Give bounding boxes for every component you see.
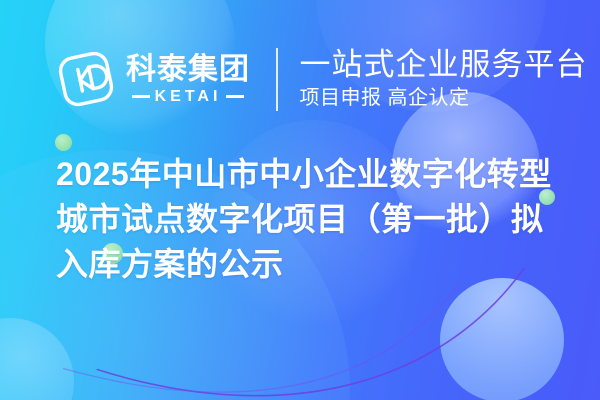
title-line-1: 2025年中山市中小企业数字化转型 xyxy=(56,152,576,197)
brand-name-en: KETAI xyxy=(155,88,222,105)
brand-tagline: 一站式企业服务平台 项目申报 高企认定 xyxy=(300,47,588,111)
ketai-diamond-logo-icon xyxy=(56,49,116,109)
title-line-2: 城市试点数字化项目（第一批）拟 xyxy=(56,197,576,242)
announcement-banner: 科泰集团 KETAI 一站式企业服务平台 项目申报 高企认定 2025年中山市中… xyxy=(0,0,600,400)
tagline-sub: 项目申报 高企认定 xyxy=(300,85,588,111)
wordmark-rule-right xyxy=(226,95,244,98)
header-divider xyxy=(276,48,278,111)
title-line-3: 入库方案的公示 xyxy=(56,242,576,287)
banner-header: 科泰集团 KETAI 一站式企业服务平台 项目申报 高企认定 xyxy=(0,40,600,118)
brand-name-cn: 科泰集团 xyxy=(126,53,250,87)
brand-logo-lockup[interactable]: 科泰集团 KETAI xyxy=(56,49,250,109)
brand-wordmark: 科泰集团 KETAI xyxy=(126,53,250,105)
announcement-title: 2025年中山市中小企业数字化转型 城市试点数字化项目（第一批）拟 入库方案的公… xyxy=(56,152,576,287)
wordmark-rule-left xyxy=(132,95,150,98)
tagline-main: 一站式企业服务平台 xyxy=(300,47,588,83)
brand-name-en-row: KETAI xyxy=(132,88,245,105)
